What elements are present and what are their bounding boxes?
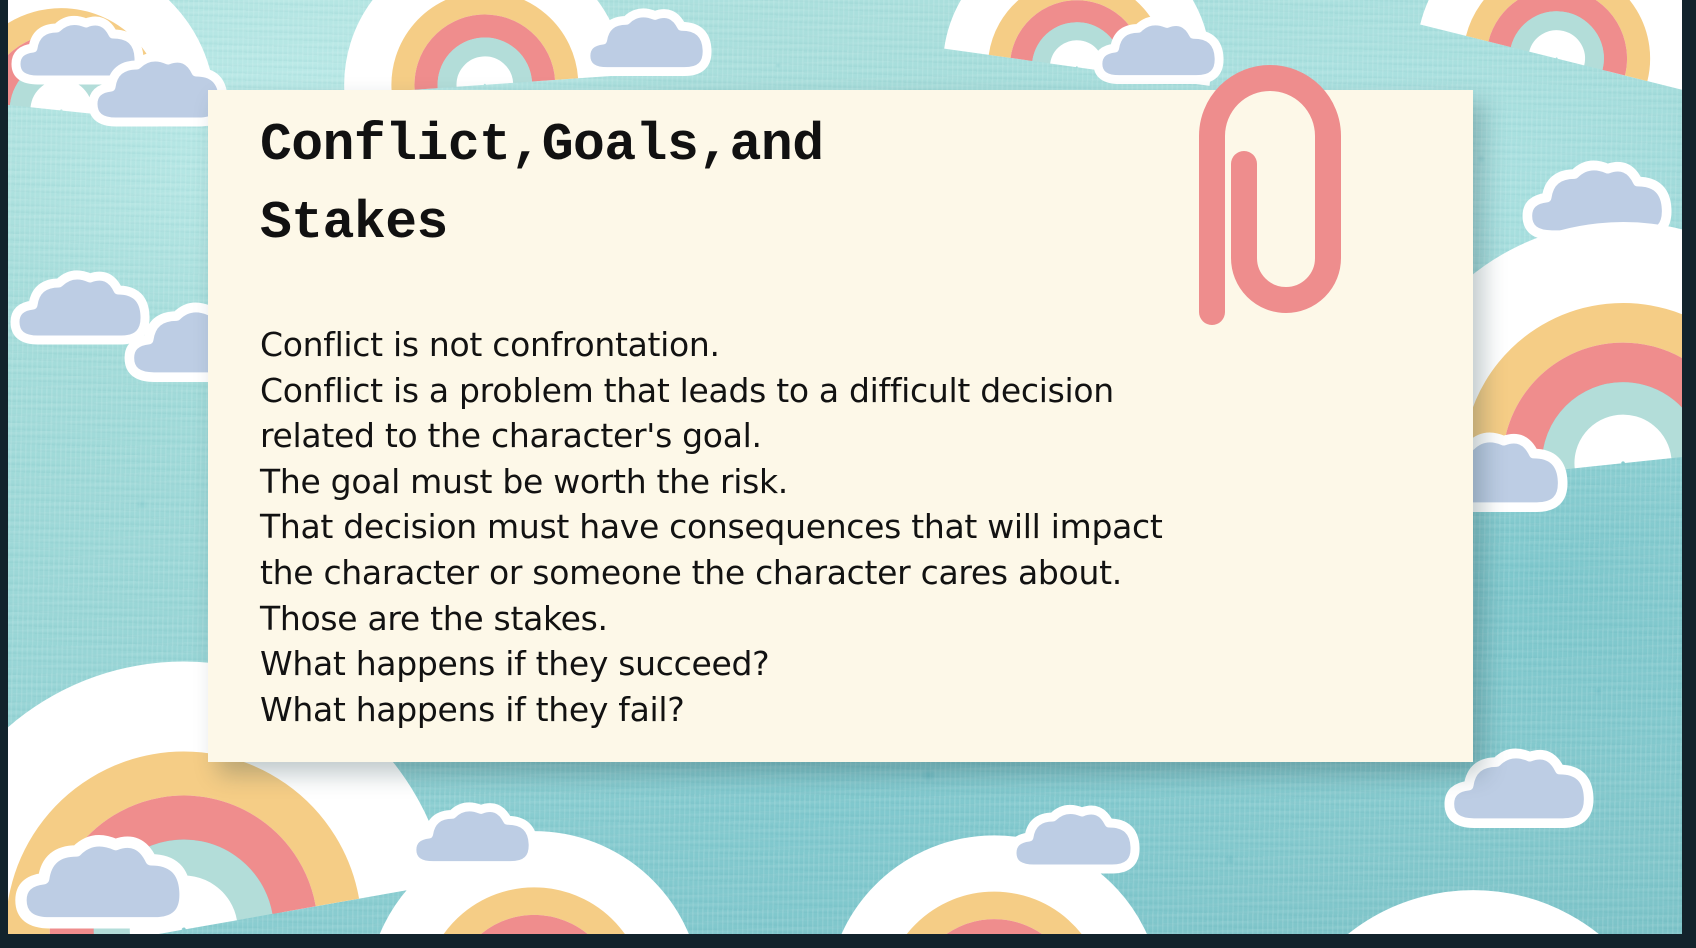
cloud-icon	[582, 6, 712, 84]
cloud-icon	[1094, 14, 1224, 92]
cloud-icon	[1008, 802, 1140, 882]
cloud-icon	[14, 832, 192, 934]
page-title: Conflict,Goals,and Stakes	[260, 106, 1120, 262]
body-text: Conflict is not confrontation. Conflict …	[260, 322, 1340, 732]
cloud-icon	[88, 50, 228, 134]
slide-canvas: Conflict,Goals,and Stakes Conflict is no…	[0, 0, 1696, 948]
cloud-icon	[408, 800, 538, 878]
